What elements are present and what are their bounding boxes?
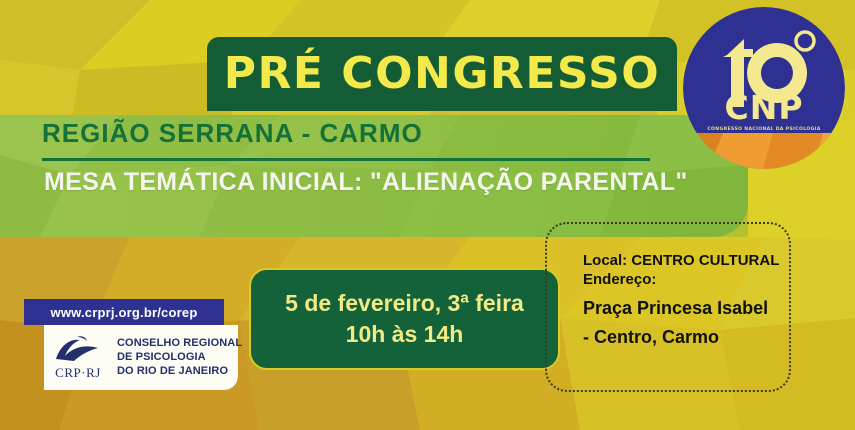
- location-address-1: Praça Princesa Isabel: [583, 297, 789, 320]
- crp-abbr: CRP·RJ: [55, 365, 101, 381]
- website-bar[interactable]: www.crprj.org.br/corep: [24, 299, 224, 325]
- svg-text:CONGRESSO NACIONAL DA PSICOLOG: CONGRESSO NACIONAL DA PSICOLOGIA: [707, 126, 820, 132]
- page-title: PRÉ CONGRESSO: [224, 52, 660, 96]
- event-poster: PRÉ CONGRESSO REGIÃO SERRANA - CARMO MES…: [0, 0, 855, 430]
- theme-line: MESA TEMÁTICA INICIAL: "ALIENAÇÃO PARENT…: [44, 168, 688, 197]
- location-box: Local: CENTRO CULTURAL Endereço: Praça P…: [545, 222, 791, 392]
- crp-bird-icon: CRP·RJ: [44, 325, 106, 390]
- svg-text:CNP: CNP: [724, 88, 803, 127]
- location-address-2: - Centro, Carmo: [583, 326, 789, 349]
- location-venue: Local: CENTRO CULTURAL: [583, 252, 789, 271]
- crp-line-1: CONSELHO REGIONAL: [117, 337, 242, 350]
- divider-rule: [42, 158, 650, 161]
- website-url: www.crprj.org.br/corep: [51, 305, 198, 320]
- time-line: 10h às 14h: [346, 321, 464, 348]
- crp-rj-logo: CRP·RJ CONSELHO REGIONAL DE PSICOLOGIA D…: [44, 325, 238, 390]
- crp-line-2: DE PSICOLOGIA: [117, 351, 242, 364]
- crp-line-3: DO RIO DE JANEIRO: [117, 365, 242, 378]
- date-box: 5 de fevereiro, 3ª feira 10h às 14h: [249, 268, 560, 370]
- title-banner: PRÉ CONGRESSO: [207, 37, 677, 111]
- cnp-logo: CNP CONGRESSO NACIONAL DA PSICOLOGIA: [683, 7, 845, 169]
- date-line: 5 de fevereiro, 3ª feira: [285, 290, 524, 317]
- location-address-label: Endereço:: [583, 271, 789, 290]
- region-subtitle: REGIÃO SERRANA - CARMO: [42, 118, 423, 149]
